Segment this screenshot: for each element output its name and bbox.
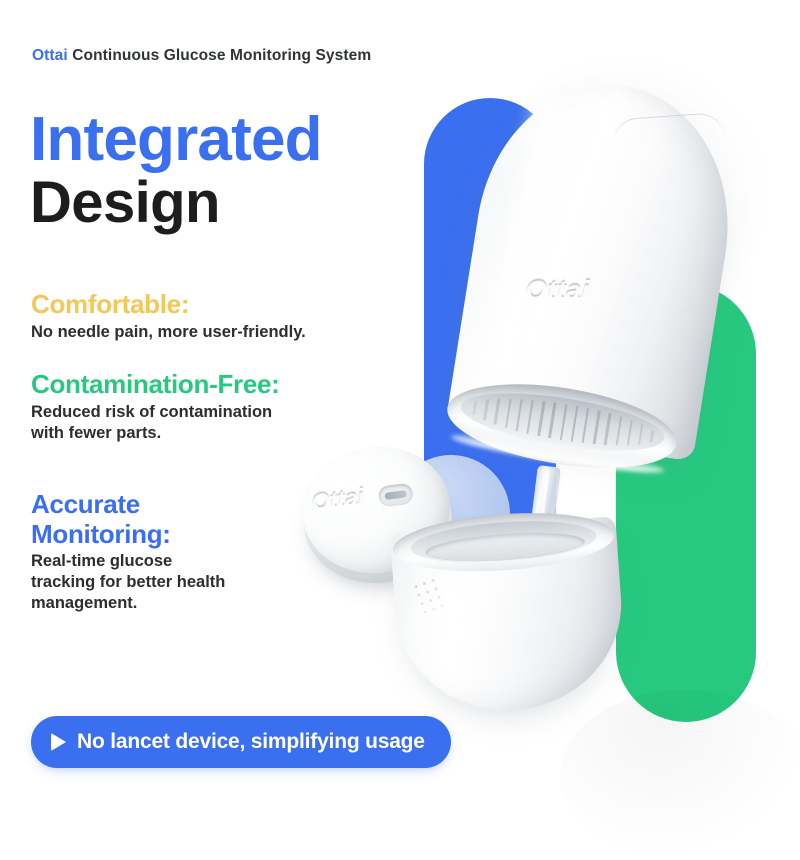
feature-block-accurate-monitoring: Accurate Monitoring: Real-time glucose t… <box>31 490 225 615</box>
feature-heading: Accurate Monitoring: <box>31 490 225 549</box>
brand-name: Ottai <box>32 47 68 64</box>
feature-body: Real-time glucose tracking for better he… <box>31 551 225 614</box>
feature-heading: Contamination-Free: <box>31 370 280 400</box>
headline-line-1: Integrated <box>30 108 322 171</box>
marketing-copy: Ottai Continuous Glucose Monitoring Syst… <box>0 0 800 800</box>
feature-body: Reduced risk of contamination with fewer… <box>31 402 280 444</box>
product-category-label: Continuous Glucose Monitoring System <box>72 47 371 64</box>
feature-block-contamination-free: Contamination-Free: Reduced risk of cont… <box>31 370 280 444</box>
eyebrow-line: Ottai Continuous Glucose Monitoring Syst… <box>32 47 371 65</box>
feature-heading: Comfortable: <box>31 290 306 320</box>
headline-line-2: Design <box>30 173 322 233</box>
cta-label: No lancet device, simplifying usage <box>77 730 425 754</box>
play-triangle-icon <box>51 733 66 751</box>
feature-block-comfortable: Comfortable: No needle pain, more user-f… <box>31 290 306 343</box>
cta-banner-no-lancet[interactable]: No lancet device, simplifying usage <box>31 716 451 768</box>
feature-body: No needle pain, more user-friendly. <box>31 322 306 343</box>
page-title: Integrated Design <box>30 108 322 234</box>
